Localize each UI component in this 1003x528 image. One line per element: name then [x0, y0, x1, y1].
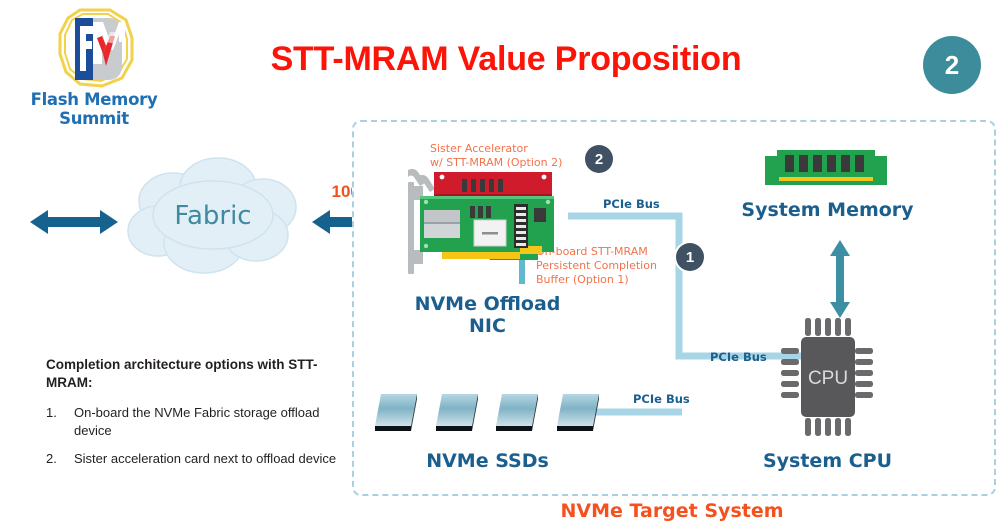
ssd-drive-icon — [433, 390, 481, 436]
fabric-cloud: Fabric — [118, 155, 308, 280]
ssd-group — [372, 390, 602, 440]
page-title: STT-MRAM Value Proposition — [196, 40, 816, 79]
ssd-drive-icon — [372, 390, 420, 436]
system-cpu-label: System CPU — [735, 450, 920, 472]
svg-text:CPU: CPU — [808, 368, 848, 389]
fabric-label: Fabric — [118, 201, 308, 231]
fms-logo-text: Flash Memory Summit — [4, 90, 184, 128]
fms-logo: Flash Memory Summit — [4, 6, 184, 114]
pcie-bus-label-top: PCIe Bus — [603, 197, 660, 211]
list-item-text: On-board the NVMe Fabric storage offload… — [74, 404, 346, 439]
list-item: 2. Sister acceleration card next to offl… — [46, 450, 346, 467]
list-item-text: Sister acceleration card next to offload… — [74, 450, 346, 467]
ssd-label: NVMe SSDs — [370, 450, 605, 472]
target-system-label: NVMe Target System — [352, 500, 992, 522]
option-badge-2: 2 — [585, 145, 613, 173]
ssd-drive-icon — [493, 390, 541, 436]
ssd-drive-icon — [554, 390, 602, 436]
nic-label: NVMe Offload NIC — [400, 294, 575, 338]
cpu-chip-icon: CPU — [781, 318, 873, 436]
pcie-bus-label-bottom: PCIe Bus — [633, 392, 690, 406]
double-arrow-vertical-icon — [829, 240, 851, 318]
nic-card-icon — [396, 166, 576, 282]
list-item-number: 1. — [46, 404, 74, 439]
notes-block: Completion architecture options with STT… — [46, 356, 346, 478]
pcie-bus-label-mid: PCIe Bus — [710, 350, 767, 364]
system-memory-label: System Memory — [735, 199, 920, 221]
notes-heading: Completion architecture options with STT… — [46, 356, 346, 392]
dimm-module-icon — [765, 148, 887, 190]
list-item-number: 2. — [46, 450, 74, 467]
page-number-badge: 2 — [923, 36, 981, 94]
fabric-external-arrow-icon — [28, 205, 120, 239]
fms-logo-icon — [50, 8, 140, 90]
option-badge-1: 1 — [676, 243, 704, 271]
list-item: 1. On-board the NVMe Fabric storage offl… — [46, 404, 346, 439]
